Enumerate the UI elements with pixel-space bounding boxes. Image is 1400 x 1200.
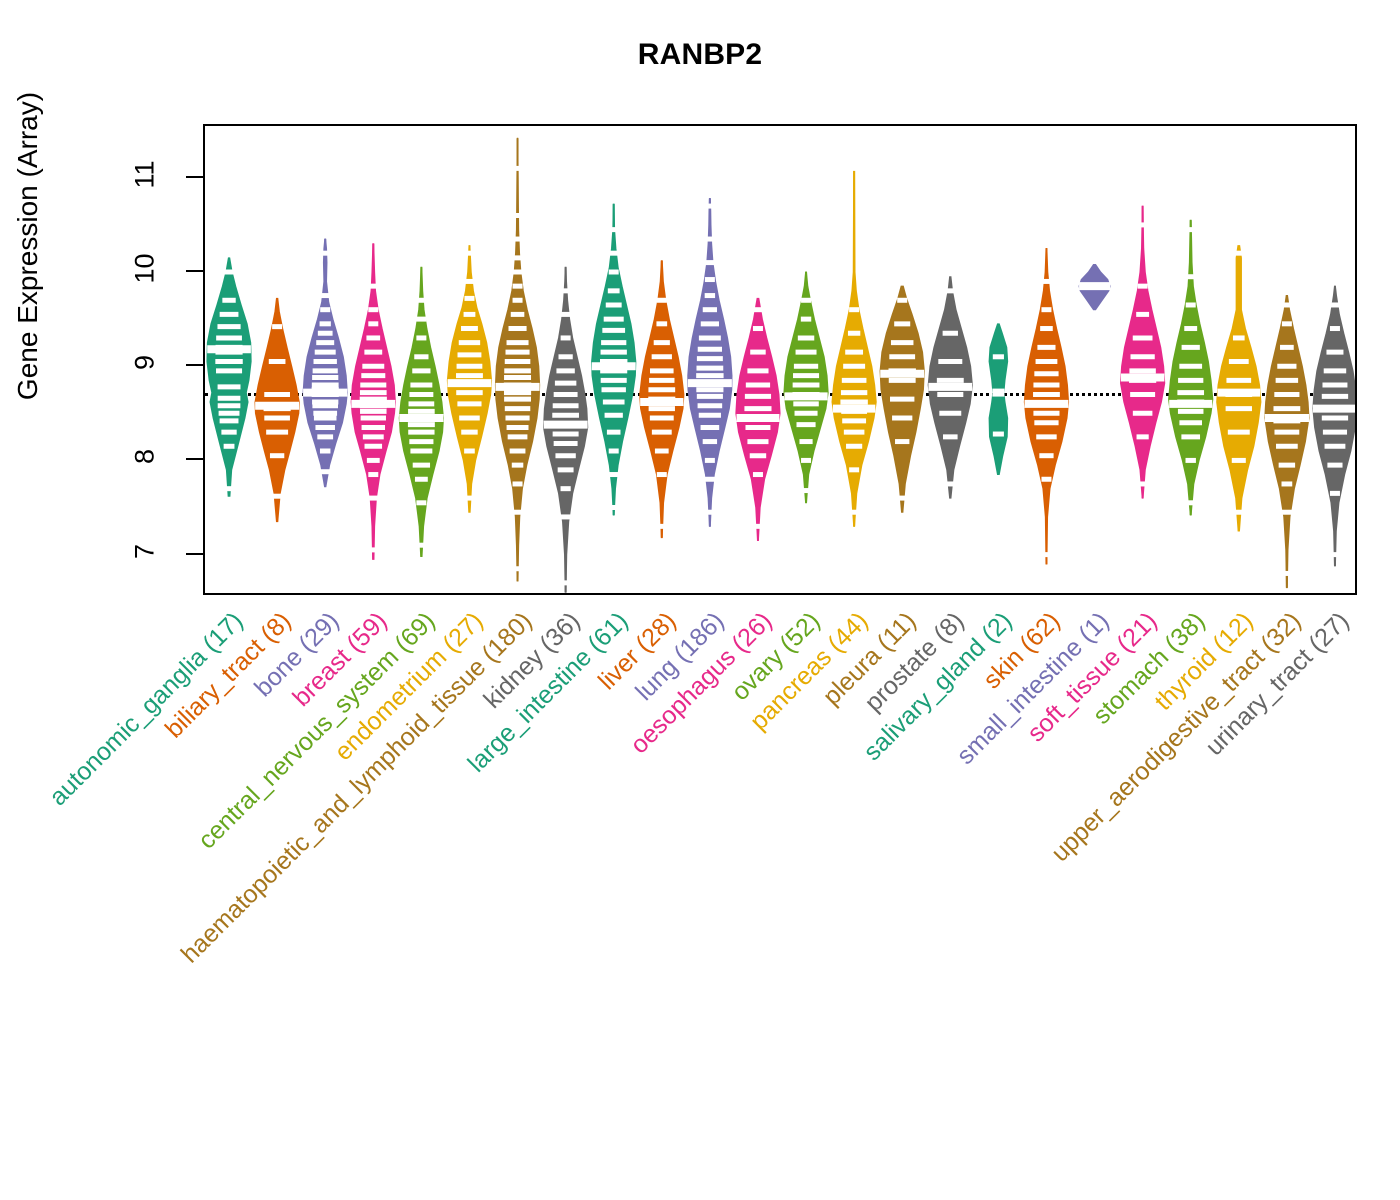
x-axis-label-haematopoietic_and_lymphoid_tissue: haematopoietic_and_lymphoid_tissue (180) — [175, 607, 538, 970]
plot-inner — [205, 126, 1355, 593]
x-axis-label-lung: lung (186) — [630, 607, 730, 707]
x-axis-label-stomach: stomach (38) — [1087, 607, 1211, 731]
x-axis-label-skin: skin (62) — [978, 607, 1066, 695]
x-axis-label-urinary_tract: urinary_tract (27) — [1200, 607, 1355, 762]
x-axis-label-ovary: ovary (52) — [726, 607, 826, 707]
x-axis-label-biliary_tract: biliary_tract (8) — [160, 607, 297, 744]
x-axis-label-prostate: prostate (8) — [860, 607, 971, 718]
x-axis-label-thyroid: thyroid (12) — [1149, 607, 1259, 717]
x-axis-label-small_intestine: small_intestine (1) — [951, 607, 1115, 771]
x-axis-label-oesophagus: oesophagus (26) — [625, 607, 778, 760]
x-axis-label-central_nervous_system: central_nervous_system (69) — [193, 607, 441, 855]
x-axis-label-soft_tissue: soft_tissue (21) — [1022, 607, 1163, 748]
y-axis-tick — [186, 364, 203, 366]
plot-area — [203, 124, 1357, 595]
y-axis-tick — [186, 458, 203, 460]
x-axis-label-liver: liver (28) — [593, 607, 682, 696]
y-axis-tick-label: 9 — [130, 343, 161, 383]
x-axis-label-upper_aerodigestive_tract: upper_aerodigestive_tract (32) — [1046, 607, 1307, 868]
chart-root: RANBP2 Gene Expression (Array) 7891011 a… — [0, 0, 1400, 1200]
y-axis-tick-label: 10 — [130, 249, 161, 289]
y-axis-tick — [186, 270, 203, 272]
y-axis-tick — [186, 176, 203, 178]
x-axis-label-autonomic_ganglia: autonomic_ganglia (17) — [44, 607, 249, 812]
x-axis-label-kidney: kidney (36) — [478, 607, 586, 715]
y-axis-title: Gene Expression (Array) — [12, 0, 44, 496]
x-axis-label-pancreas: pancreas (44) — [745, 607, 875, 737]
x-axis-label-large_intestine: large_intestine (61) — [462, 607, 634, 779]
page-title: RANBP2 — [0, 38, 1400, 72]
y-axis-tick — [186, 553, 203, 555]
x-axis-label-salivary_gland: salivary_gland (2) — [859, 607, 1019, 767]
y-axis-tick-label: 8 — [130, 437, 161, 477]
x-axis-label-bone: bone (29) — [249, 607, 345, 703]
y-axis-tick-label: 11 — [130, 154, 161, 194]
x-axis-label-pleura: pleura (11) — [818, 607, 923, 712]
y-axis-tick-label: 7 — [130, 531, 161, 571]
x-axis-label-breast: breast (59) — [288, 607, 394, 713]
x-axis-label-endometrium: endometrium (27) — [330, 607, 490, 767]
